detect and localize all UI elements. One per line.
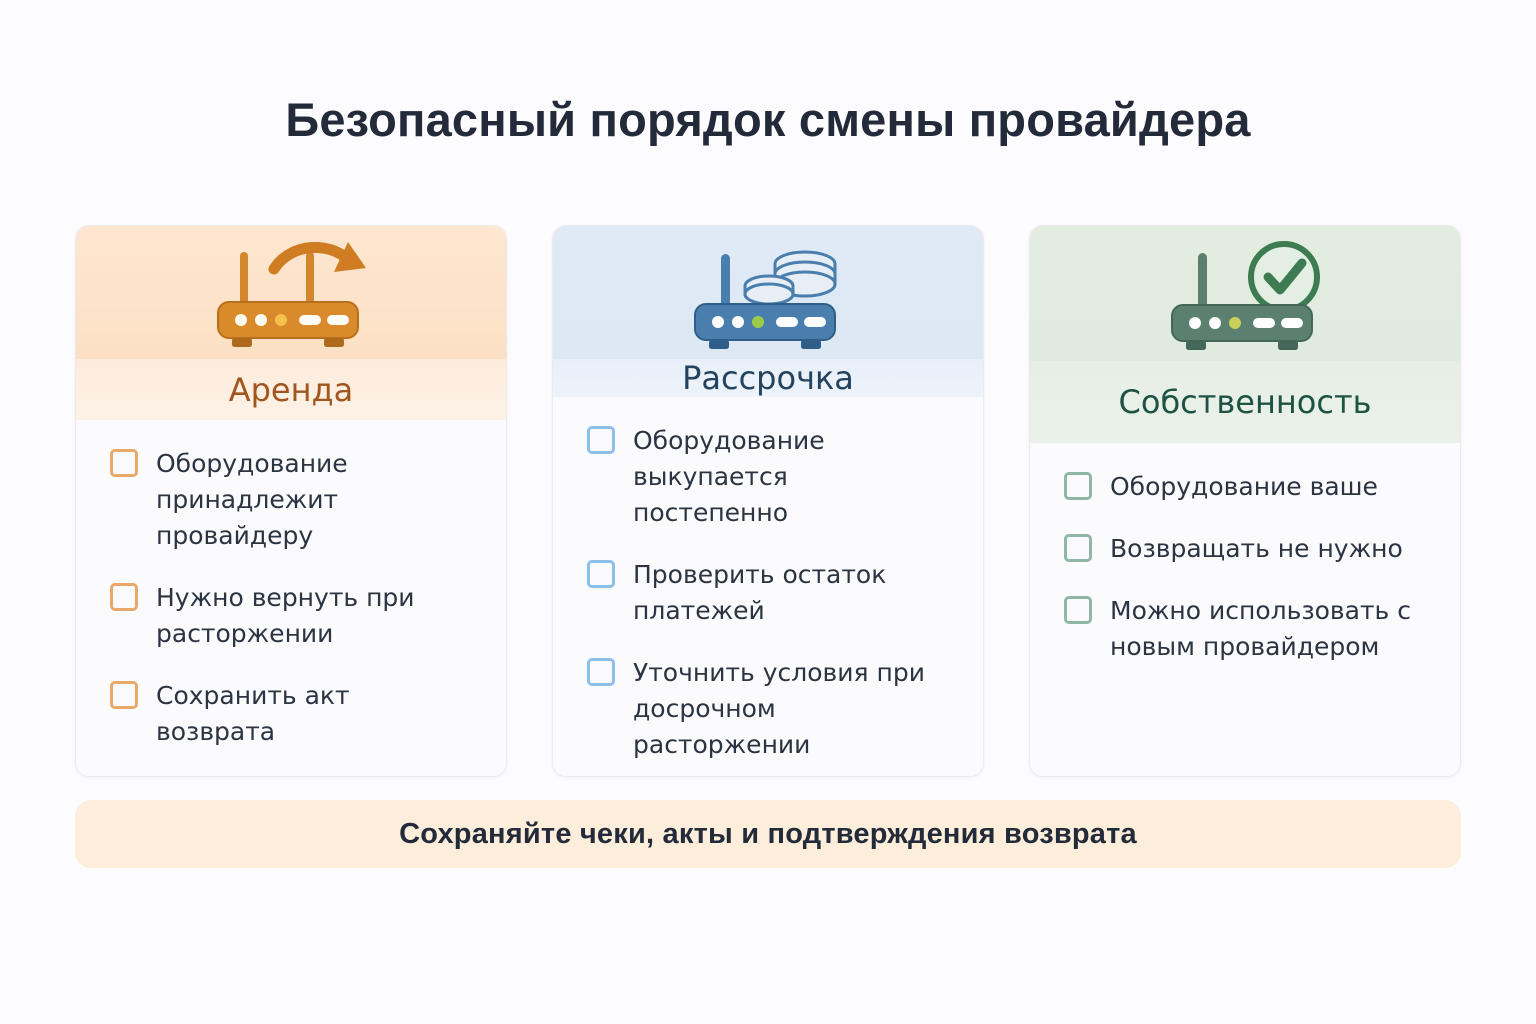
page-title: Безопасный порядок смены провайдера	[0, 92, 1536, 147]
card-rent-body: Оборудование принадлежит провайдеру Нужн…	[76, 420, 506, 776]
list-item-label: Оборудование принадлежит провайдеру	[156, 446, 461, 554]
checkbox-icon[interactable]	[1064, 534, 1092, 562]
router-return-arrow-icon	[196, 234, 386, 359]
checkbox-icon[interactable]	[110, 681, 138, 709]
card-installment-body: Оборудование выкупается постепенно Прове…	[553, 397, 983, 777]
list-item-label: Нужно вернуть при расторжении	[156, 580, 461, 652]
card-ownership[interactable]: Собственность Оборудование ваше Возвраща…	[1029, 225, 1461, 777]
list-item-label: Оборудование ваше	[1110, 469, 1378, 505]
footer-banner-text: Сохраняйте чеки, акты и подтверждения во…	[399, 818, 1137, 851]
card-ownership-icon-area	[1030, 226, 1460, 361]
card-rent[interactable]: Аренда Оборудование принадлежит провайде…	[75, 225, 507, 777]
checkbox-icon[interactable]	[587, 560, 615, 588]
checkbox-icon[interactable]	[1064, 472, 1092, 500]
list-item[interactable]: Нужно вернуть при расторжении	[110, 580, 472, 652]
list-item-label: Оборудование выкупается постепенно	[633, 423, 938, 531]
checkbox-icon[interactable]	[587, 426, 615, 454]
card-rent-title: Аренда	[76, 359, 506, 420]
list-item[interactable]: Можно использовать с новым провайдером	[1064, 593, 1426, 665]
card-installment-icon-area	[553, 226, 983, 359]
list-item-label: Можно использовать с новым провайдером	[1110, 593, 1415, 665]
infographic-page: Безопасный порядок смены провайдера	[0, 0, 1536, 1024]
checkbox-icon[interactable]	[587, 658, 615, 686]
checkbox-icon[interactable]	[1064, 596, 1092, 624]
card-installment-title: Рассрочка	[553, 359, 983, 397]
list-item[interactable]: Оборудование выкупается постепенно	[587, 423, 949, 531]
card-installment[interactable]: Рассрочка Оборудование выкупается постеп…	[552, 225, 984, 777]
list-item[interactable]: Оборудование принадлежит провайдеру	[110, 446, 472, 554]
list-item[interactable]: Сохранить акт возврата	[110, 678, 472, 750]
checkbox-icon[interactable]	[110, 583, 138, 611]
card-ownership-body: Оборудование ваше Возвращать не нужно Мо…	[1030, 443, 1460, 776]
card-ownership-title: Собственность	[1030, 361, 1460, 443]
list-item-label: Возвращать не нужно	[1110, 531, 1403, 567]
list-item-label: Уточнить условия при досрочном расторжен…	[633, 655, 938, 763]
list-item[interactable]: Возвращать не нужно	[1064, 531, 1426, 567]
router-check-icon	[1150, 235, 1340, 360]
checkbox-icon[interactable]	[110, 449, 138, 477]
footer-banner: Сохраняйте чеки, акты и подтверждения во…	[75, 800, 1461, 868]
list-item[interactable]: Уточнить условия при досрочном расторжен…	[587, 655, 949, 763]
list-item-label: Сохранить акт возврата	[156, 678, 461, 750]
card-rent-icon-area	[76, 226, 506, 359]
router-coins-icon	[673, 234, 863, 359]
list-item[interactable]: Проверить остаток платежей	[587, 557, 949, 629]
list-item[interactable]: Оборудование ваше	[1064, 469, 1426, 505]
list-item-label: Проверить остаток платежей	[633, 557, 938, 629]
cards-row: Аренда Оборудование принадлежит провайде…	[75, 225, 1461, 775]
